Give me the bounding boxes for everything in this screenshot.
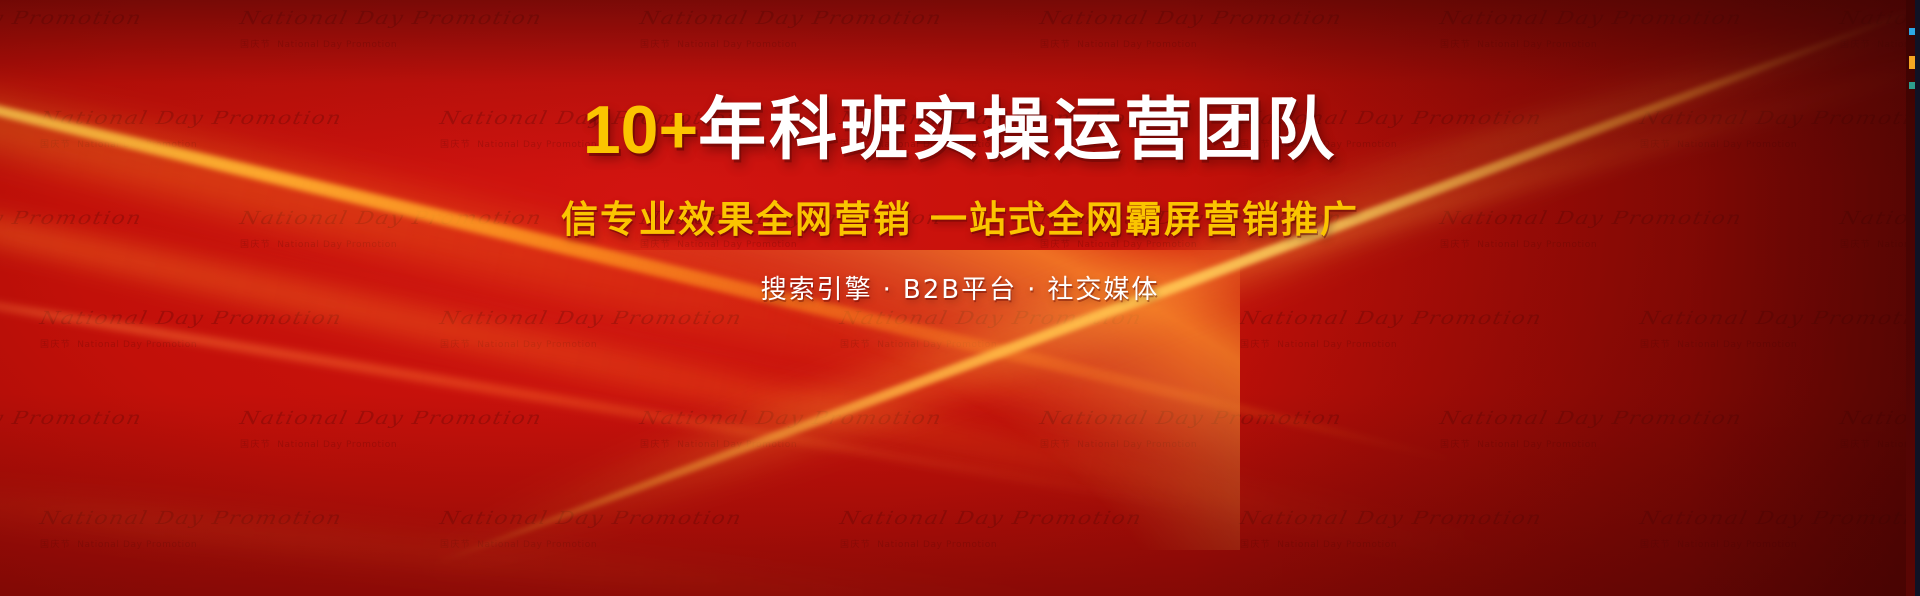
headline-text: 年科班实操运营团队 bbox=[698, 91, 1337, 170]
tagline-separator-2: · bbox=[1027, 275, 1037, 305]
subline-part-2: 一站式全网霸屏营销推广 bbox=[930, 198, 1359, 241]
banner-content: 10+年科班实操运营团队 信专业效果全网营销一站式全网霸屏营销推广 搜索引擎·B… bbox=[0, 96, 1920, 306]
headline-number: 10+ bbox=[583, 92, 698, 168]
tagline-separator-1: · bbox=[883, 275, 893, 305]
subline: 信专业效果全网营销一站式全网霸屏营销推广 bbox=[0, 189, 1920, 243]
tagline: 搜索引擎·B2B平台·社交媒体 bbox=[0, 269, 1920, 306]
tagline-item-2: B2B平台 bbox=[903, 275, 1017, 305]
tagline-item-1: 搜索引擎 bbox=[761, 275, 873, 305]
tagline-item-3: 社交媒体 bbox=[1047, 275, 1159, 305]
subline-part-1: 信专业效果全网营销 bbox=[561, 198, 912, 241]
headline: 10+年科班实操运营团队 bbox=[0, 96, 1920, 165]
promotional-banner: National Day Promotion国庆节National Day Pr… bbox=[0, 0, 1920, 596]
